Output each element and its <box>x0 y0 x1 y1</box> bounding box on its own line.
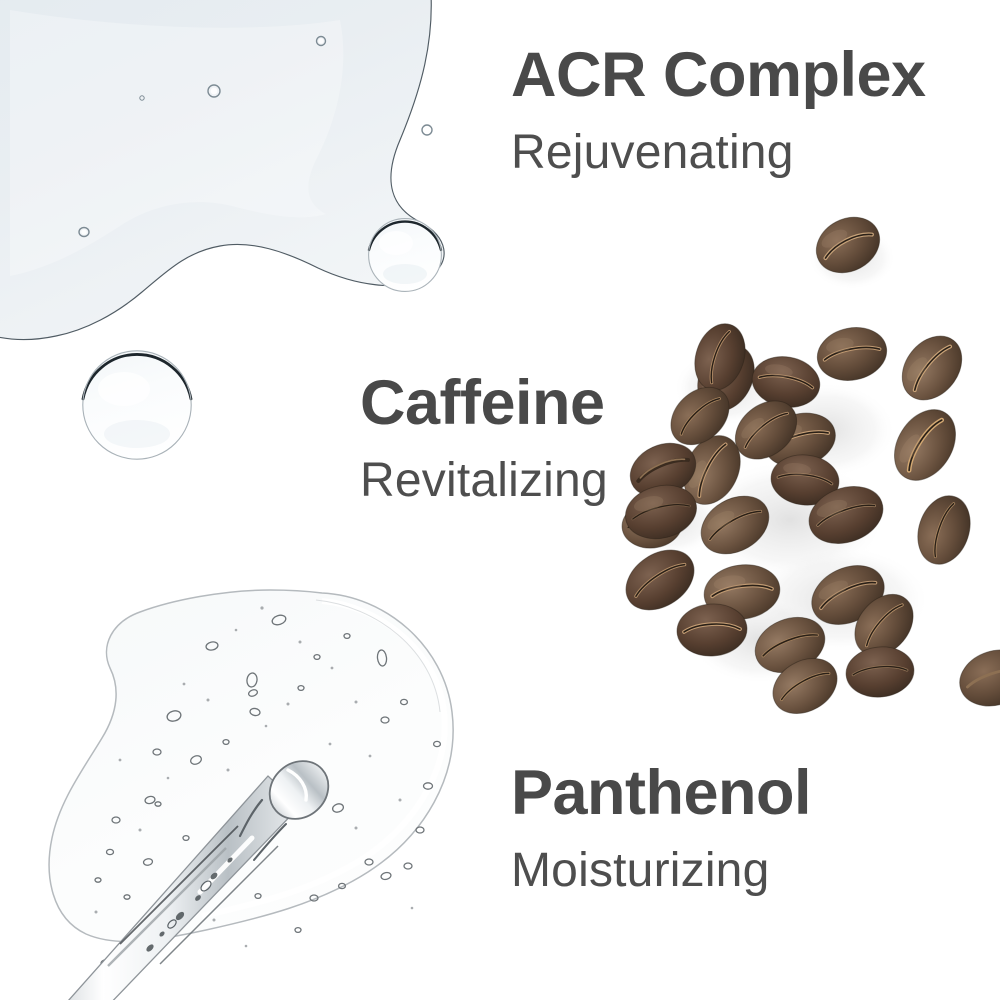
coffee-bean <box>748 351 824 412</box>
coffee-bean <box>687 317 754 397</box>
coffee-bean <box>724 389 808 471</box>
ingredient-block-caffeine: Caffeine Revitalizing <box>360 372 608 505</box>
spill-bubble-group <box>79 37 432 237</box>
ingredient-block-acr-complex: ACR Complex Rejuvenating <box>511 44 926 177</box>
ingredient-title-acr-complex: ACR Complex <box>511 44 926 107</box>
coffee-bean <box>660 376 741 456</box>
gel-smear-graphic <box>49 590 453 970</box>
coffee-bean-outlier-left <box>620 478 702 546</box>
ingredient-title-panthenol: Panthenol <box>511 762 811 825</box>
ingredient-benefit-panthenol: Moisturizing <box>511 847 811 895</box>
coffee-bean <box>691 484 779 565</box>
coffee-bean <box>747 607 833 682</box>
coffee-bean <box>882 398 968 491</box>
coffee-bean <box>673 426 751 514</box>
coffee-bean <box>952 641 1000 715</box>
coffee-bean <box>620 499 684 551</box>
water-droplet-large <box>82 350 192 460</box>
coffee-bean <box>701 560 784 624</box>
coffee-bean <box>844 644 917 701</box>
coffee-bean <box>812 321 891 386</box>
coffee-bean <box>890 324 974 411</box>
coffee-bean <box>909 489 978 571</box>
ingredient-benefit-acr-complex: Rejuvenating <box>511 129 926 177</box>
coffee-bean <box>802 554 894 636</box>
coffee-bean <box>769 452 842 509</box>
ingredient-benefit-caffeine: Revitalizing <box>360 457 608 505</box>
coffee-bean <box>624 485 693 543</box>
water-droplet-small <box>368 218 442 292</box>
coffee-bean <box>615 538 705 622</box>
water-spill-graphic <box>0 0 444 339</box>
infographic-canvas: ACR Complex Rejuvenating Caffeine Revita… <box>0 0 1000 1000</box>
coffee-bean <box>843 583 925 667</box>
coffee-bean <box>687 335 766 421</box>
coffee-bean <box>763 647 847 724</box>
ingredient-title-caffeine: Caffeine <box>360 372 608 435</box>
coffee-bean <box>622 433 704 506</box>
coffee-bean-cluster <box>615 207 1000 725</box>
gel-microbubble-group <box>95 606 414 947</box>
coffee-bean <box>675 602 748 659</box>
coffee-bean <box>801 477 891 554</box>
coffee-bean <box>758 405 842 475</box>
glass-dropper-icon <box>60 749 340 1000</box>
ingredient-block-panthenol: Panthenol Moisturizing <box>511 762 811 895</box>
gel-bubble-group <box>95 614 440 971</box>
bean-shadow-group <box>624 226 930 684</box>
coffee-bean <box>807 207 890 284</box>
